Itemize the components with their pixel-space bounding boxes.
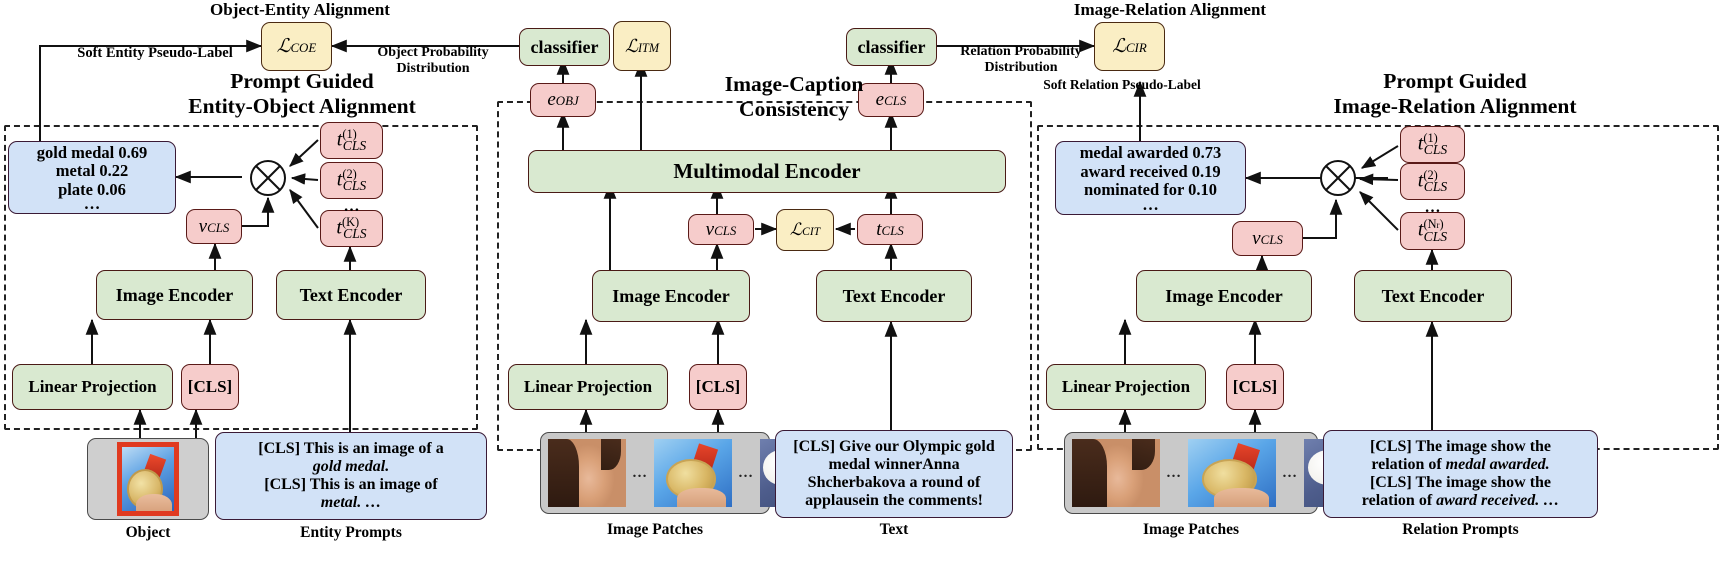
- middle-image-encoder-label: Image Encoder: [612, 286, 729, 306]
- right-t-cls-token-1: t(1)CLS: [1400, 126, 1465, 163]
- entity-prompt-line-2: gold medal.: [313, 458, 389, 476]
- entity-prompt-line-3: [CLS] This is an image of: [264, 476, 438, 494]
- relation-prompt-line-4: relation of award received. …: [1362, 492, 1559, 510]
- right-t-token-ellipsis: …: [1400, 199, 1465, 217]
- image-patch-medal: [1188, 439, 1276, 507]
- relation-prompt-line-1: [CLS] The image show the: [1370, 438, 1551, 456]
- entity-prompts-box: [CLS] This is an image of a gold medal. …: [215, 432, 487, 520]
- heading-middle-line2: Consistency: [686, 97, 902, 122]
- left-t-cls-token-2: t(2)CLS: [320, 162, 383, 199]
- relation-prompt-line-3: [CLS] The image show the: [1370, 474, 1551, 492]
- object-thumbnail: [117, 442, 179, 516]
- left-cls-token-label: [CLS]: [188, 377, 232, 396]
- relation-prompt-line-2-italic: medal awarded.: [1446, 456, 1550, 473]
- caption-object: Object: [87, 524, 209, 542]
- rel-prob-line1: Relation Probability: [938, 44, 1104, 60]
- text-line-1: [CLS] Give our Olympic gold: [793, 438, 995, 456]
- relation-prompt-line-2: relation of medal awarded.: [1371, 456, 1549, 474]
- title-object-entity-alignment: Object-Entity Alignment: [178, 0, 422, 19]
- caption-entity-prompts: Entity Prompts: [215, 524, 487, 542]
- heading-left-line1: Prompt Guided: [140, 69, 464, 94]
- entity-pseudo-line-2: metal 0.22: [56, 162, 128, 180]
- loss-coe-box: ℒCOE: [261, 22, 332, 71]
- right-patch-ellipsis-2: …: [1276, 465, 1304, 482]
- left-image-encoder: Image Encoder: [96, 270, 253, 320]
- middle-classifier-left-label: classifier: [531, 37, 599, 57]
- right-image-encoder: Image Encoder: [1136, 270, 1312, 322]
- middle-classifier-left: classifier: [519, 28, 610, 66]
- loss-cit-label: ℒCIT: [790, 220, 820, 239]
- edge-label-soft-relation-pseudo-label: Soft Relation Pseudo-Label: [1020, 77, 1224, 92]
- relation-prompts-box: [CLS] The image show the relation of med…: [1323, 430, 1598, 518]
- right-text-encoder-label: Text Encoder: [1382, 286, 1485, 306]
- right-image-patches: … …: [1064, 432, 1318, 514]
- right-t-cls-token-2: t(2)CLS: [1400, 163, 1465, 200]
- circled-times-icon: [1318, 158, 1358, 198]
- relation-prompt-line-4-italic: award received. …: [1436, 492, 1559, 509]
- heading-middle-line1: Image-Caption: [686, 72, 902, 97]
- image-patch-medal: [654, 439, 732, 507]
- heading-image-caption-consistency: Image-Caption Consistency: [686, 72, 902, 121]
- circled-times-icon: [248, 158, 288, 198]
- right-text-encoder: Text Encoder: [1354, 270, 1512, 322]
- left-image-encoder-label: Image Encoder: [116, 285, 233, 305]
- caption-middle-image-patches: Image Patches: [540, 521, 770, 539]
- loss-coe-label: ℒCOE: [277, 36, 317, 57]
- middle-classifier-right-label: classifier: [858, 37, 926, 57]
- object-image-box: [87, 438, 209, 520]
- loss-cir-label: ℒCIR: [1112, 36, 1146, 57]
- middle-t-cls-token: tCLS: [857, 214, 923, 245]
- loss-itm-box: ℒITM: [613, 21, 671, 71]
- edge-label-relation-probability-distribution: Relation Probability Distribution: [938, 44, 1104, 76]
- image-patch-face: [1072, 439, 1160, 507]
- middle-cls-token-label: [CLS]: [696, 377, 740, 396]
- right-cls-token-label: [CLS]: [1233, 377, 1277, 396]
- right-cls-token-box: [CLS]: [1226, 364, 1284, 410]
- multimodal-encoder: Multimodal Encoder: [528, 150, 1006, 193]
- heading-prompt-guided-image-relation: Prompt Guided Image-Relation Alignment: [1245, 69, 1665, 118]
- entity-prompt-line-4: metal. …: [321, 494, 381, 512]
- relation-pseudo-line-4: …: [1142, 200, 1159, 209]
- relation-prompt-line-2-plain: relation of: [1371, 456, 1445, 473]
- multimodal-encoder-label: Multimodal Encoder: [673, 160, 860, 184]
- middle-image-patches: … …: [540, 432, 770, 514]
- relation-pseudo-line-1: medal awarded 0.73: [1080, 144, 1222, 162]
- relation-prompt-line-4-plain: relation of: [1362, 492, 1436, 509]
- left-text-encoder: Text Encoder: [276, 270, 426, 320]
- middle-linear-projection-label: Linear Projection: [524, 377, 652, 396]
- entity-pseudo-line-1: gold medal 0.69: [37, 144, 147, 162]
- left-cls-token-box: [CLS]: [181, 364, 239, 410]
- left-v-cls-token: vCLS: [186, 209, 242, 244]
- caption-relation-prompts: Relation Prompts: [1323, 521, 1598, 539]
- entity-pseudo-line-4: …: [84, 199, 101, 208]
- loss-cir-box: ℒCIR: [1094, 22, 1165, 71]
- left-linear-projection: Linear Projection: [12, 364, 173, 410]
- edge-label-soft-entity-pseudo-label: Soft Entity Pseudo-Label: [54, 45, 256, 62]
- left-t-token-ellipsis: …: [320, 198, 383, 216]
- middle-cls-token-box: [CLS]: [689, 364, 747, 410]
- heading-prompt-guided-entity-object: Prompt Guided Entity-Object Alignment: [140, 69, 464, 118]
- text-line-3: Shcherbakova a round of: [808, 474, 981, 492]
- right-image-encoder-label: Image Encoder: [1165, 286, 1282, 306]
- right-t-cls-token-nr: t(Nr)CLS: [1400, 212, 1465, 250]
- caption-right-image-patches: Image Patches: [1064, 521, 1318, 539]
- relation-pseudo-label-box: medal awarded 0.73 award received 0.19 n…: [1055, 141, 1246, 215]
- e-obj-token: eOBJ: [530, 83, 596, 117]
- right-linear-projection: Linear Projection: [1046, 364, 1206, 410]
- middle-image-encoder: Image Encoder: [592, 270, 750, 322]
- caption-text: Text: [775, 521, 1013, 539]
- loss-itm-label: ℒITM: [625, 36, 659, 56]
- loss-cit-box: ℒCIT: [776, 209, 834, 251]
- middle-text-encoder-label: Text Encoder: [843, 286, 946, 306]
- obj-prob-line1: Object Probability: [358, 45, 508, 61]
- right-linear-projection-label: Linear Projection: [1062, 377, 1190, 396]
- text-box: [CLS] Give our Olympic gold medal winner…: [775, 430, 1013, 518]
- heading-right-line2: Image-Relation Alignment: [1245, 94, 1665, 119]
- heading-right-line1: Prompt Guided: [1245, 69, 1665, 94]
- left-linear-projection-label: Linear Projection: [28, 377, 156, 396]
- text-line-4: applausein the comments!: [805, 492, 983, 510]
- right-v-cls-token: vCLS: [1232, 221, 1303, 256]
- heading-left-line2: Entity-Object Alignment: [140, 94, 464, 119]
- relation-pseudo-line-2: award received 0.19: [1080, 163, 1220, 181]
- left-text-encoder-label: Text Encoder: [300, 285, 403, 305]
- title-image-relation-alignment: Image-Relation Alignment: [1000, 0, 1340, 19]
- middle-patch-ellipsis-2: …: [732, 465, 760, 482]
- middle-linear-projection: Linear Projection: [508, 364, 668, 410]
- image-patch-face: [548, 439, 626, 507]
- left-t-cls-token-1: t(1)CLS: [320, 122, 383, 159]
- middle-v-cls-token: vCLS: [688, 214, 754, 245]
- middle-patch-ellipsis-1: …: [626, 465, 654, 482]
- middle-text-encoder: Text Encoder: [816, 270, 972, 322]
- right-patch-ellipsis-1: …: [1160, 465, 1188, 482]
- figure-canvas: Object-Entity Alignment ℒCOE Soft Entity…: [0, 0, 1725, 577]
- rel-prob-line2: Distribution: [938, 60, 1104, 76]
- middle-classifier-right: classifier: [846, 28, 937, 66]
- entity-prompt-line-1: [CLS] This is an image of a: [258, 440, 444, 458]
- entity-pseudo-label-box: gold medal 0.69 metal 0.22 plate 0.06 …: [8, 141, 176, 214]
- text-line-2: medal winnerAnna: [828, 456, 959, 474]
